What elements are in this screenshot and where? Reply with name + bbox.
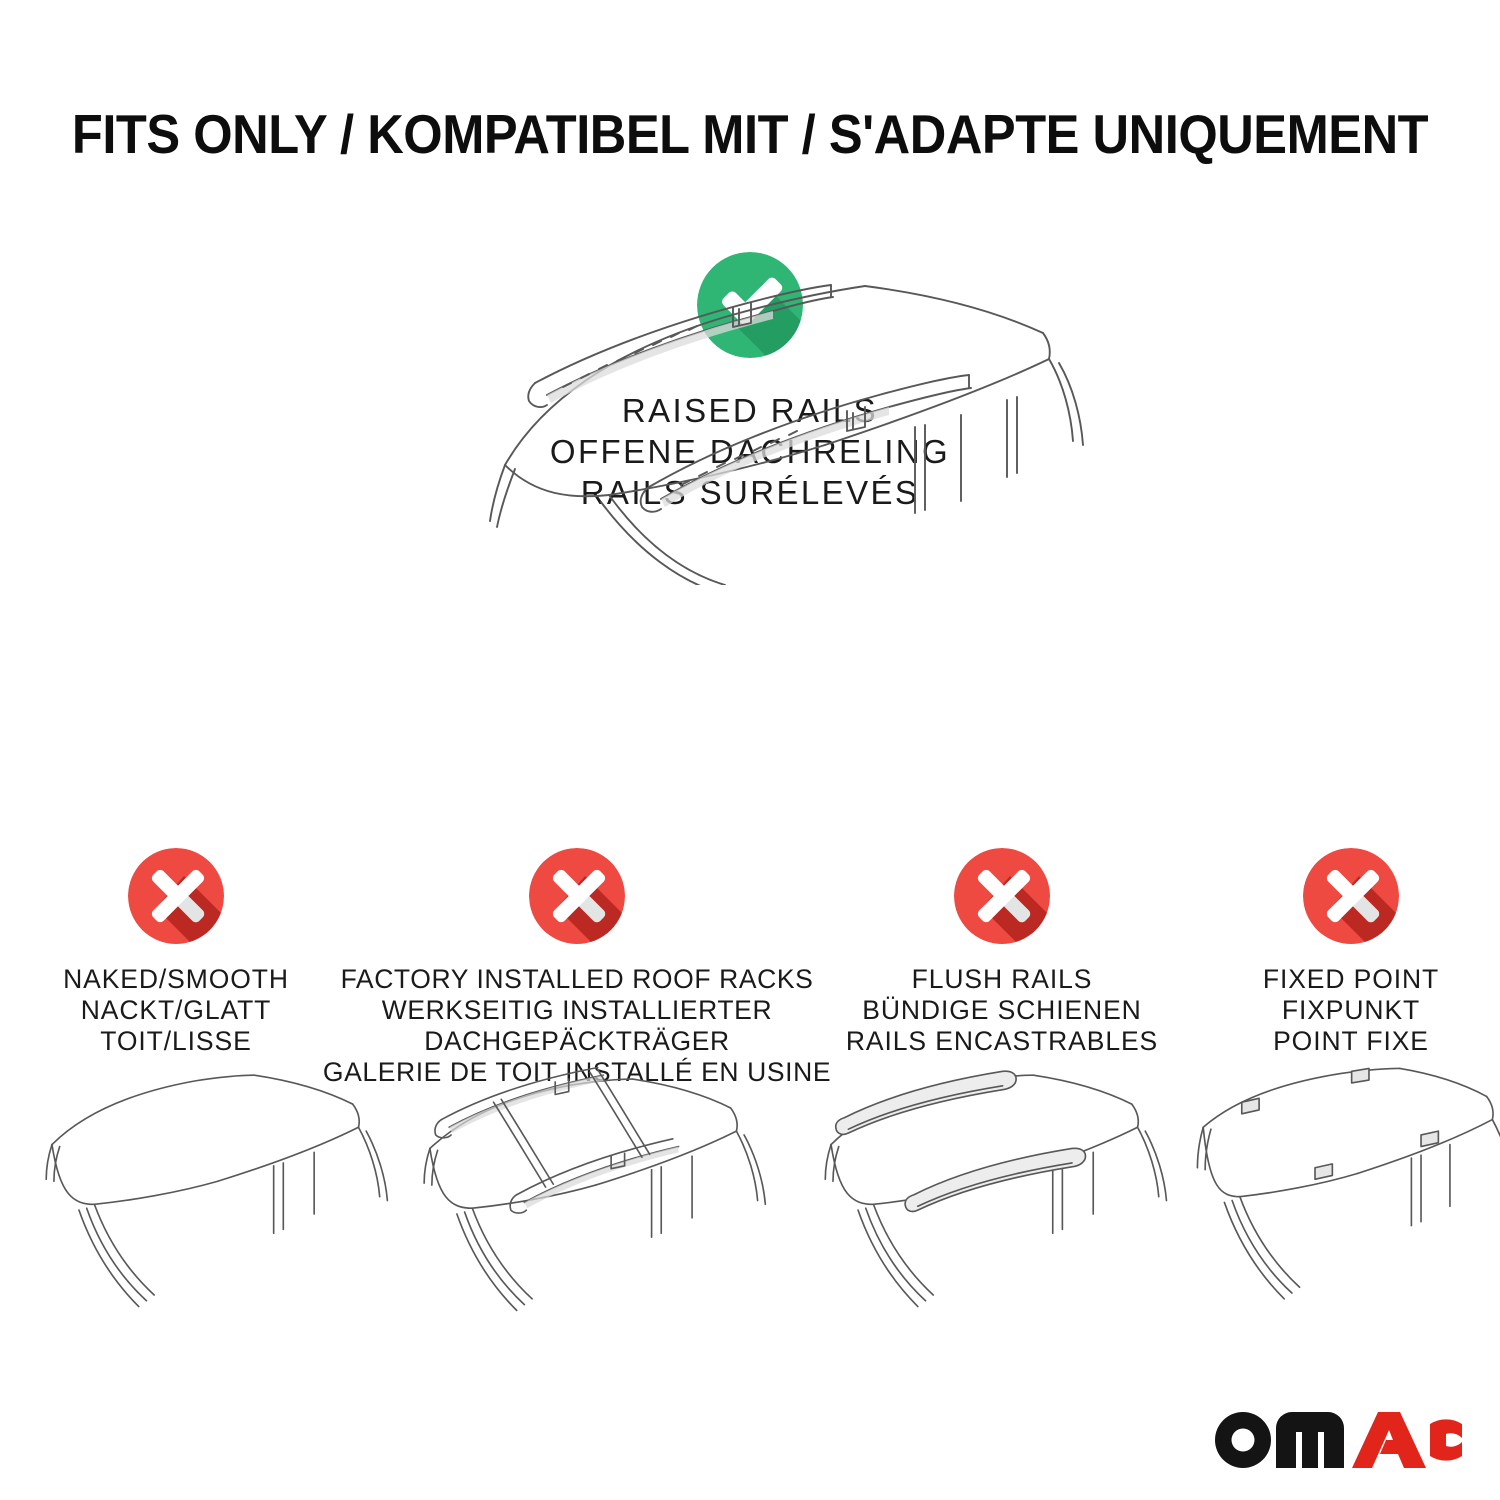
caption-line: RAILS ENCASTRABLES	[846, 1026, 1158, 1057]
incompatible-item-fixed-point: FIXED POINT FIXPUNKT POINT FIXE	[1202, 848, 1500, 1057]
fitment-infographic: FITS ONLY / KOMPATIBEL MIT / S'ADAPTE UN…	[0, 0, 1500, 1500]
red-x-icon	[1303, 848, 1399, 944]
incompatible-item-flush-rails: FLUSH RAILS BÜNDIGE SCHIENEN RAILS ENCAS…	[802, 848, 1202, 1057]
caption-line: FIXED POINT	[1263, 964, 1439, 995]
red-x-icon	[128, 848, 224, 944]
caption-line: WERKSEITIG INSTALLIERTER	[323, 995, 831, 1026]
caption-line: BÜNDIGE SCHIENEN	[846, 995, 1158, 1026]
incompatible-item-naked-smooth: NAKED/SMOOTH NACKT/GLATT TOIT/LISSE	[0, 848, 352, 1057]
caption-line: FLUSH RAILS	[846, 964, 1158, 995]
red-x-icon	[529, 848, 625, 944]
car-roof-raised-rails-illustration	[395, 255, 1125, 585]
incompatible-caption: NAKED/SMOOTH NACKT/GLATT TOIT/LISSE	[63, 964, 289, 1057]
caption-line: FIXPUNKT	[1263, 995, 1439, 1026]
caption-line: TOIT/LISSE	[63, 1026, 289, 1057]
car-roof-fixed-point-illustration	[1182, 1055, 1500, 1320]
omac-logo	[1212, 1406, 1462, 1470]
incompatible-section: NAKED/SMOOTH NACKT/GLATT TOIT/LISSE FACT…	[0, 848, 1500, 1088]
caption-line: POINT FIXE	[1263, 1026, 1439, 1057]
incompatible-item-factory-roof-racks: FACTORY INSTALLED ROOF RACKS WERKSEITIG …	[352, 848, 802, 1088]
caption-line: NAKED/SMOOTH	[63, 964, 289, 995]
caption-line: DACHGEPÄCKTRÄGER	[323, 1026, 831, 1057]
caption-line: FACTORY INSTALLED ROOF RACKS	[323, 964, 831, 995]
car-roof-factory-roof-racks-illustration	[401, 1055, 787, 1320]
incompatible-illustrations	[0, 1055, 1500, 1320]
caption-line: NACKT/GLATT	[63, 995, 289, 1026]
incompatible-caption: FIXED POINT FIXPUNKT POINT FIXE	[1263, 964, 1439, 1057]
red-x-icon	[954, 848, 1050, 944]
page-title: FITS ONLY / KOMPATIBEL MIT / S'ADAPTE UN…	[60, 104, 1440, 164]
car-roof-naked-smooth-illustration	[25, 1055, 411, 1320]
car-roof-flush-rails-illustration	[806, 1055, 1182, 1320]
incompatible-caption: FLUSH RAILS BÜNDIGE SCHIENEN RAILS ENCAS…	[846, 964, 1158, 1057]
